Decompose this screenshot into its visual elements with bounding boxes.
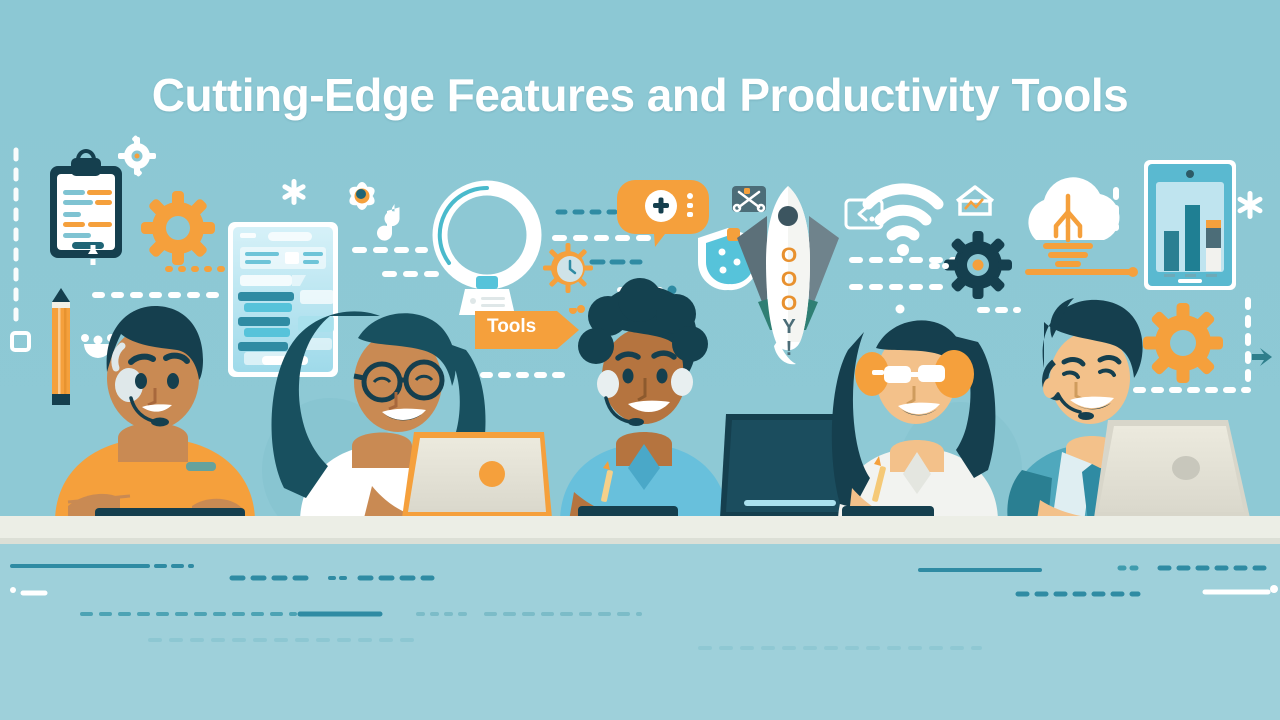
- illustration-svg: [0, 0, 1280, 720]
- laptop-person-2: [402, 432, 552, 518]
- tools-arrow-banner[interactable]: [475, 308, 585, 352]
- tablet-chart-icon: [1144, 160, 1236, 290]
- scissors-icon: [732, 186, 766, 212]
- illustration-canvas: Cutting-Edge Features and Productivity T…: [0, 0, 1280, 720]
- headphone-ear-left: [855, 352, 889, 396]
- clipboard-icon: [50, 151, 122, 258]
- desk-edge: [0, 538, 1280, 544]
- laptop-person-5: [1094, 420, 1250, 518]
- tablet-chat-icon: [228, 222, 338, 377]
- pencil-icon: [52, 288, 70, 405]
- laptop-person-3: [720, 414, 850, 518]
